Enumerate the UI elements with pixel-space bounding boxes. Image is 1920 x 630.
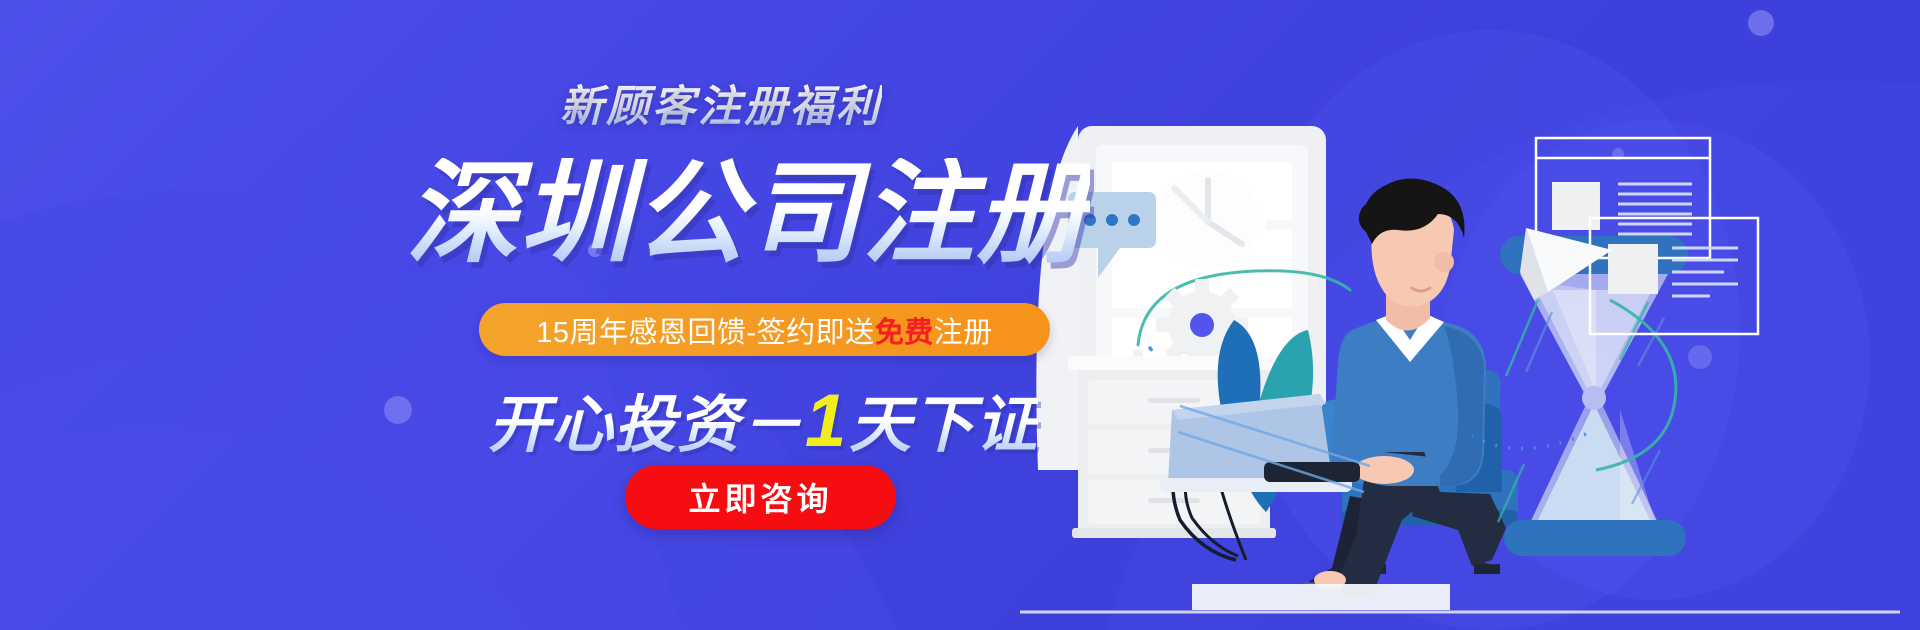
hero-illustration bbox=[1020, 0, 1920, 630]
banner-copy: 新顾客注册福利 深圳公司注册 15周年感恩回馈-签约即送免费注册 开心投资－1天… bbox=[0, 0, 1100, 630]
document-thumb bbox=[1608, 244, 1658, 294]
promo-highlight: 免费 bbox=[875, 317, 934, 349]
promo-badge: 15周年感恩回馈-签约即送免费注册 bbox=[479, 303, 1050, 356]
clock-icon bbox=[1150, 162, 1266, 278]
promo-badge-text: 15周年感恩回馈-签约即送免费注册 bbox=[536, 309, 992, 351]
subline-prefix: 开心投资－ bbox=[488, 391, 803, 460]
banner-subline: 开心投资－1天下证 bbox=[488, 384, 1038, 458]
document-thumb bbox=[1552, 182, 1600, 230]
consult-now-button[interactable]: 立即咨询 bbox=[625, 465, 896, 529]
promo-suffix: 注册 bbox=[934, 317, 993, 349]
subline-suffix: 天下证 bbox=[849, 391, 1038, 460]
consult-now-button-label: 立即咨询 bbox=[688, 474, 832, 520]
banner-tagline: 新顾客注册福利 bbox=[560, 72, 882, 134]
promo-prefix: 15周年感恩回馈-签约即送 bbox=[536, 317, 874, 349]
subline-number: 1 bbox=[803, 379, 849, 462]
promo-banner: 新顾客注册福利 深圳公司注册 15周年感恩回馈-签约即送免费注册 开心投资－1天… bbox=[0, 0, 1920, 630]
banner-headline: 深圳公司注册 bbox=[406, 158, 1090, 270]
